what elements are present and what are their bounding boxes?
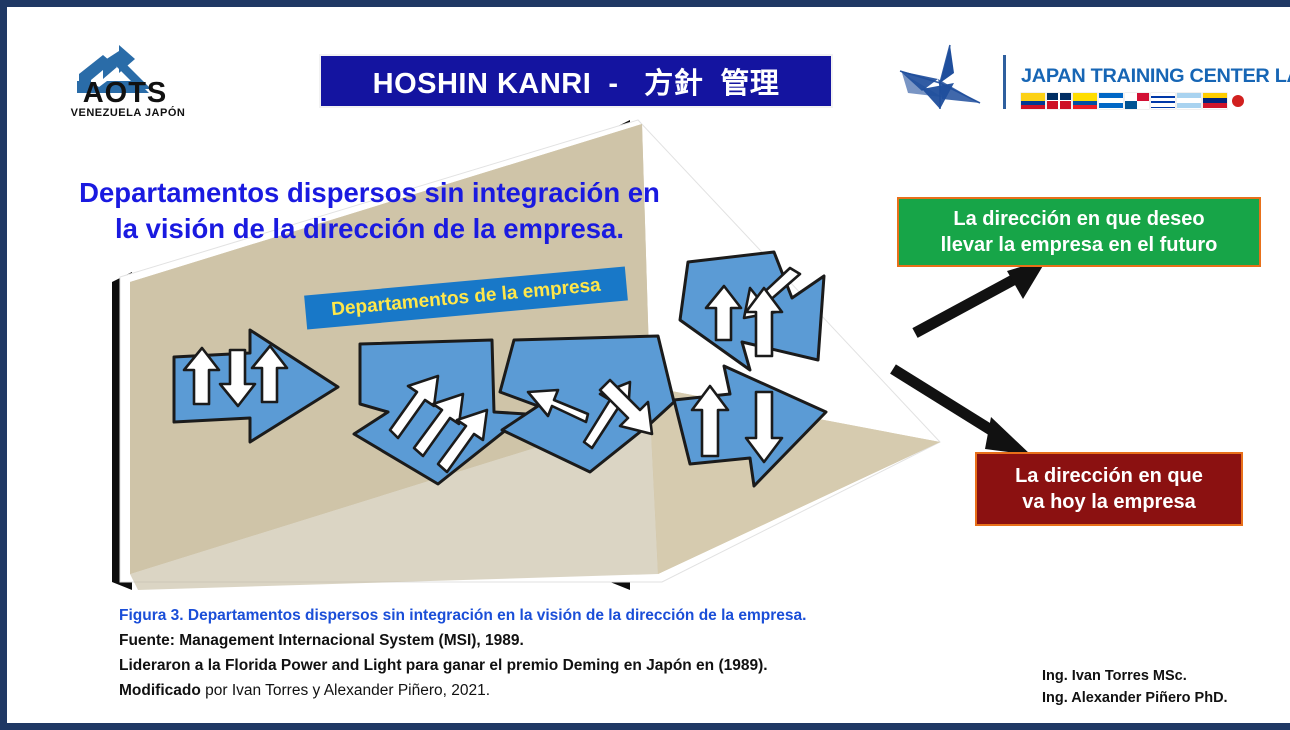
caption-line-4: Modificado por Ivan Torres y Alexander P… — [119, 678, 999, 703]
flag-dominican-republic — [1047, 93, 1071, 109]
outcome-box-future: La dirección en que deseo llevar la empr… — [897, 197, 1261, 267]
caption-line-1: Figura 3. Departamentos dispersos sin in… — [119, 603, 999, 628]
flag-panama — [1125, 93, 1149, 109]
outcome-today-line-1: La dirección en que — [1015, 463, 1203, 489]
flag-colombia — [1021, 93, 1045, 109]
slide-title-banner: HOSHIN KANRI - 方針 管理 — [319, 54, 833, 108]
caption-line-4-rest: por Ivan Torres y Alexander Piñero, 2021… — [201, 682, 490, 699]
flag-ecuador — [1073, 93, 1097, 109]
page-title: HOSHIN KANRI - 方針 管理 — [373, 60, 780, 102]
flag-japan — [1229, 93, 1246, 109]
headline-line-2: la visión de la dirección de la empresa. — [62, 211, 677, 247]
figure-caption: Figura 3. Departamentos dispersos sin in… — [119, 603, 999, 703]
origami-crane-icon — [892, 43, 987, 121]
inner-arrows-1 — [184, 346, 287, 406]
slide-canvas: AOTS VENEZUELA JAPÓN HOSHIN KANRI - 方針 管… — [0, 0, 1290, 730]
credit-line-2: Ing. Alexander Piñero PhD. — [1042, 687, 1272, 709]
headline: Departamentos dispersos sin integración … — [62, 175, 677, 247]
connector-to-future — [915, 259, 1047, 333]
author-credits: Ing. Ivan Torres MSc. Ing. Alexander Piñ… — [1042, 665, 1272, 710]
headline-line-1: Departamentos dispersos sin integración … — [62, 175, 677, 211]
connector-to-today — [893, 369, 1031, 455]
aots-wordmark: AOTS — [55, 79, 195, 108]
flag-strip — [1021, 92, 1266, 109]
jtcl-wordmark: JAPAN TRAINING CENTER LATAM — [1021, 65, 1271, 88]
outcome-today-line-2: va hoy la empresa — [1022, 489, 1195, 515]
logo-divider — [1003, 55, 1006, 109]
caption-line-3: Lideraron a la Florida Power and Light p… — [119, 653, 999, 678]
caption-line-2: Fuente: Management Internacional System … — [119, 628, 999, 653]
credit-line-1: Ing. Ivan Torres MSc. — [1042, 665, 1272, 687]
outcome-future-line-1: La dirección en que deseo — [953, 206, 1204, 232]
jtcl-logo: JAPAN TRAINING CENTER LATAM — [1021, 65, 1266, 109]
flag-venezuela — [1203, 93, 1227, 109]
caption-line-4-bold: Modificado — [119, 682, 201, 699]
flag-nicaragua — [1099, 93, 1123, 109]
flag-uruguay — [1151, 93, 1175, 109]
flag-el-salvador — [1177, 93, 1201, 109]
outcome-future-line-2: llevar la empresa en el futuro — [941, 232, 1218, 258]
outcome-box-today: La dirección en que va hoy la empresa — [975, 452, 1243, 526]
